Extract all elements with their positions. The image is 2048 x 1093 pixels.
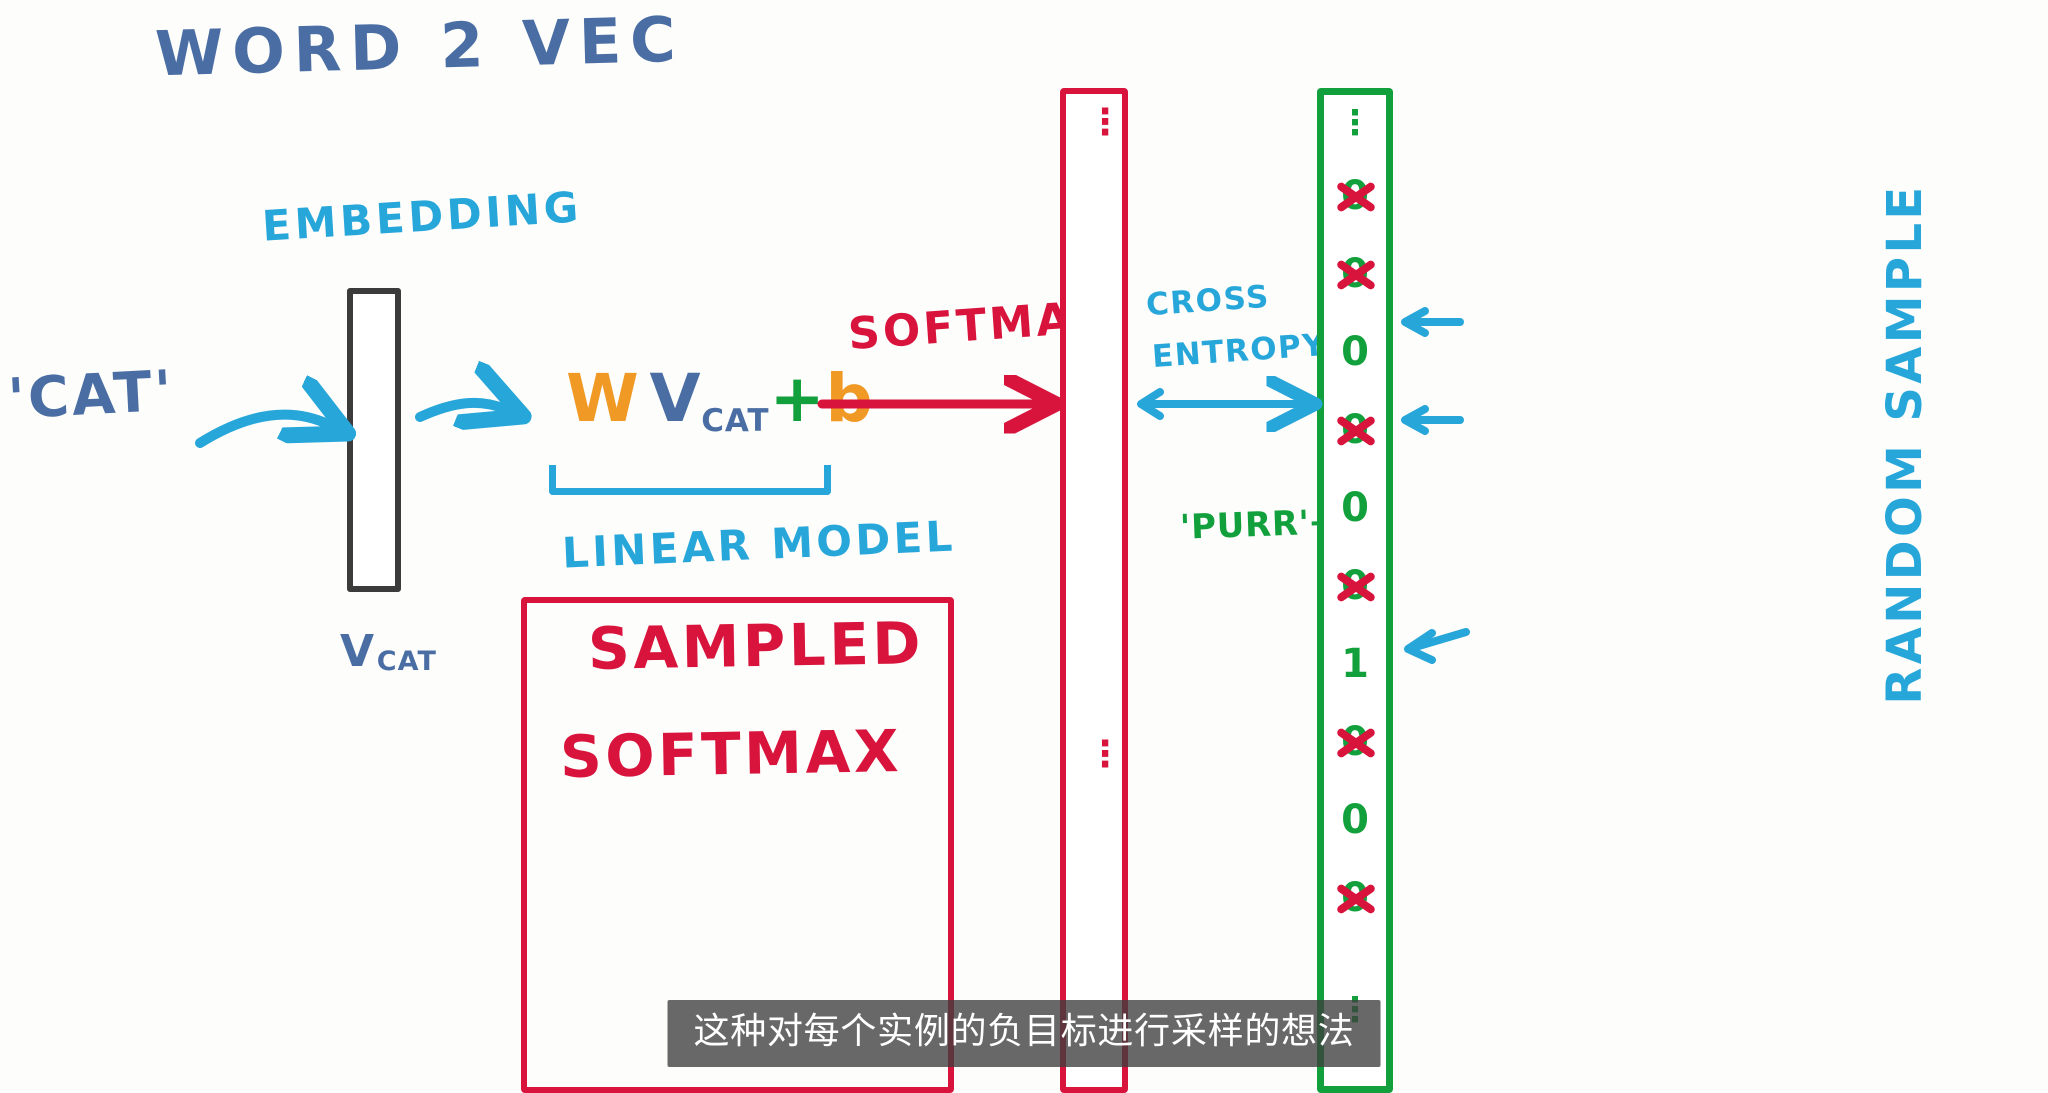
arrow-embedding-to-formula: [420, 403, 505, 417]
page-title: WORD 2 VEC: [154, 9, 685, 86]
linear-model-label: LINEAR MODEL: [561, 515, 956, 574]
arrow-cross-entropy-left-head: [1141, 392, 1160, 416]
purr-label: 'PURR'→: [1179, 505, 1339, 545]
logits-dots-top: ⋮: [1087, 112, 1125, 134]
logits-column-box: [1060, 88, 1128, 1093]
arrow-sample-3: [1412, 632, 1466, 648]
arrow-sample-1-head: [1405, 311, 1425, 333]
target-cell-value: 0: [1341, 482, 1369, 534]
target-dots-top: ⋮: [1324, 113, 1386, 134]
target-cell-value: 0: [1341, 560, 1369, 612]
target-cell: 0: [1324, 482, 1386, 534]
target-cell-value: 0: [1341, 404, 1369, 456]
sampled-softmax-line1: SAMPLED: [588, 614, 925, 678]
target-cell: 0: [1324, 170, 1386, 222]
target-column-box: ⋮ 0000001000 ⋮: [1317, 88, 1393, 1093]
target-cell-value: 0: [1341, 248, 1369, 300]
target-cell: 0: [1324, 404, 1386, 456]
embedding-label: EMBEDDING: [261, 186, 583, 247]
input-word-label: 'CAT': [7, 364, 176, 429]
logits-dots-bottom: ⋮: [1087, 744, 1125, 766]
subtitle-bar: 这种对每个实例的负目标进行采样的想法: [668, 1000, 1381, 1067]
cross-entropy-label-line2: ENTROPY: [1151, 330, 1327, 373]
formula-v: V: [649, 360, 701, 437]
linear-model-bracket: [549, 465, 831, 495]
embedding-vector-box: [347, 288, 401, 592]
random-sample-label: RANDOM SAMPLE: [1881, 124, 1929, 764]
target-cell-value: 0: [1341, 170, 1369, 222]
target-cell: 0: [1324, 716, 1386, 768]
target-cell: 0: [1324, 326, 1386, 378]
vcat-subscript: CAT: [377, 646, 437, 677]
vcat-symbol: V: [340, 626, 377, 677]
formula-b: b: [825, 360, 873, 437]
linear-model-formula: WVCAT+b: [566, 366, 873, 437]
sampled-softmax-line2: SOFTMAX: [560, 722, 903, 786]
target-cell-value: 0: [1341, 794, 1369, 846]
formula-v-subscript: CAT: [701, 403, 769, 439]
target-cell: 0: [1324, 248, 1386, 300]
target-cell: 0: [1324, 794, 1386, 846]
target-cell-value: 0: [1341, 872, 1369, 924]
formula-w: W: [566, 360, 639, 437]
target-cell: 1: [1324, 638, 1386, 690]
arrow-sample-3-head: [1408, 633, 1432, 660]
arrow-layer: [0, 0, 2048, 1093]
formula-plus: +: [770, 360, 826, 437]
target-cell: 0: [1324, 560, 1386, 612]
arrow-sample-2-head: [1405, 409, 1425, 431]
target-cell: 0: [1324, 872, 1386, 924]
arrow-cat-to-embedding: [200, 415, 330, 443]
target-cell-value: 0: [1341, 716, 1369, 768]
whiteboard-canvas: WORD 2 VEC EMBEDDING 'CAT' VCAT WVCAT+b …: [0, 0, 2048, 1093]
cross-entropy-label-line1: CROSS: [1145, 282, 1271, 322]
target-cell-value: 1: [1341, 638, 1369, 690]
target-cell-value: 0: [1341, 326, 1369, 378]
vcat-label: VCAT: [340, 630, 437, 675]
